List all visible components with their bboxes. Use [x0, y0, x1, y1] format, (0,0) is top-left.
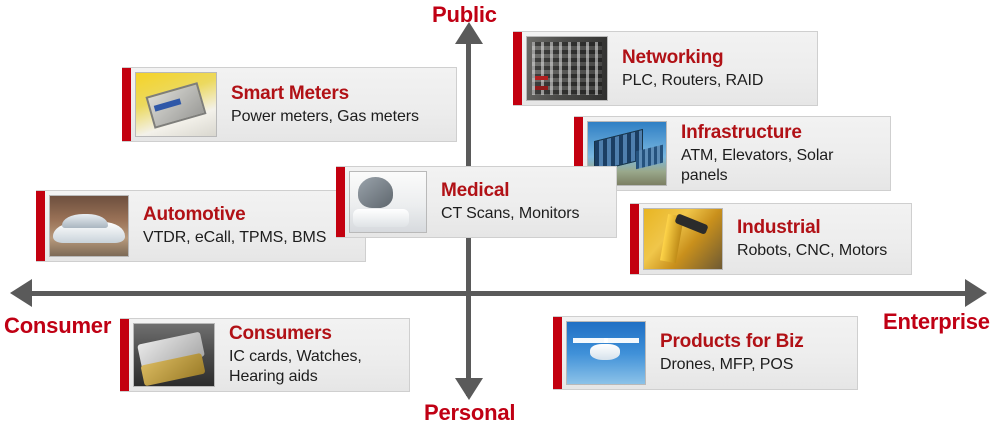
drone-photo-icon [566, 321, 646, 385]
card-text: Infrastructure ATM, Elevators, Solar pan… [667, 117, 890, 190]
card-title: Automotive [143, 204, 355, 226]
card-accent-bar [553, 317, 562, 389]
card-text: Industrial Robots, CNC, Motors [723, 204, 911, 274]
car-photo-icon [49, 195, 129, 257]
card-industrial[interactable]: Industrial Robots, CNC, Motors [630, 203, 912, 275]
server-rack-photo-icon [526, 36, 608, 101]
card-subtitle: Drones, MFP, POS [660, 355, 847, 375]
axis-label-enterprise: Enterprise [883, 309, 990, 335]
card-accent-bar [122, 68, 131, 141]
card-text: Products for Biz Drones, MFP, POS [646, 317, 857, 389]
card-title: Smart Meters [231, 83, 446, 105]
card-subtitle: ATM, Elevators, Solar panels [681, 146, 880, 186]
card-accent-bar [36, 191, 45, 261]
horizontal-axis [30, 291, 965, 296]
robot-arm-photo-icon [643, 208, 723, 270]
card-infrastructure[interactable]: Infrastructure ATM, Elevators, Solar pan… [574, 116, 891, 191]
card-products-for-biz[interactable]: Products for Biz Drones, MFP, POS [553, 316, 858, 390]
axis-label-public: Public [432, 2, 497, 28]
card-text: Consumers IC cards, Watches, Hearing aid… [215, 319, 409, 391]
card-accent-bar [630, 204, 639, 274]
card-title: Medical [441, 180, 606, 202]
card-title: Infrastructure [681, 122, 880, 144]
arrow-left-icon [10, 279, 32, 307]
card-text: Automotive VTDR, eCall, TPMS, BMS [129, 191, 365, 261]
ic-card-photo-icon [133, 323, 215, 387]
axis-label-personal: Personal [424, 400, 515, 426]
card-text: Networking PLC, Routers, RAID [608, 32, 817, 105]
arrow-down-icon [455, 378, 483, 400]
card-subtitle: VTDR, eCall, TPMS, BMS [143, 228, 355, 248]
ct-scanner-photo-icon [349, 171, 427, 233]
card-text: Smart Meters Power meters, Gas meters [217, 68, 456, 141]
card-title: Industrial [737, 217, 901, 239]
card-networking[interactable]: Networking PLC, Routers, RAID [513, 31, 818, 106]
arrow-right-icon [965, 279, 987, 307]
card-accent-bar [336, 167, 345, 237]
card-accent-bar [513, 32, 522, 105]
card-consumers[interactable]: Consumers IC cards, Watches, Hearing aid… [120, 318, 410, 392]
card-title: Products for Biz [660, 331, 847, 353]
card-automotive[interactable]: Automotive VTDR, eCall, TPMS, BMS [36, 190, 366, 262]
card-subtitle: CT Scans, Monitors [441, 204, 606, 224]
axis-label-consumer: Consumer [4, 313, 111, 339]
card-title: Networking [622, 47, 807, 69]
card-subtitle: Power meters, Gas meters [231, 107, 446, 127]
card-accent-bar [120, 319, 129, 391]
smart-meter-photo-icon [135, 72, 217, 137]
card-smart-meters[interactable]: Smart Meters Power meters, Gas meters [122, 67, 457, 142]
card-subtitle: PLC, Routers, RAID [622, 71, 807, 91]
card-subtitle: IC cards, Watches, Hearing aids [229, 347, 399, 387]
card-medical[interactable]: Medical CT Scans, Monitors [336, 166, 617, 238]
card-subtitle: Robots, CNC, Motors [737, 241, 901, 261]
card-title: Consumers [229, 323, 399, 345]
quadrant-diagram: Public Personal Consumer Enterprise Smar… [0, 0, 995, 440]
card-text: Medical CT Scans, Monitors [427, 167, 616, 237]
